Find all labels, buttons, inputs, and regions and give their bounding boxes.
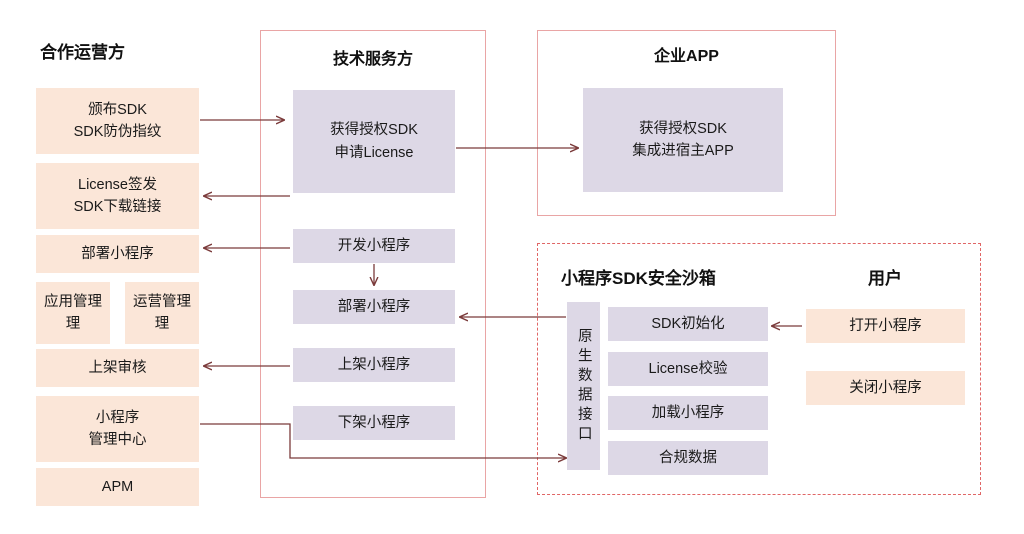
node-line: 申请License xyxy=(335,142,414,164)
node-line: SDK防伪指纹 xyxy=(74,121,162,143)
node-line: 管理中心 xyxy=(89,429,147,451)
node-get-authorized-sdk[interactable]: 获得授权SDK 申请License xyxy=(293,90,455,193)
node-list-miniapp[interactable]: 上架小程序 xyxy=(293,348,455,382)
node-open-miniapp[interactable]: 打开小程序 xyxy=(806,309,965,343)
node-line: 打开小程序 xyxy=(849,315,922,337)
node-line: 小程序 xyxy=(96,407,140,429)
node-line: 运营管理 xyxy=(133,291,191,313)
node-line: 上架小程序 xyxy=(338,354,411,376)
node-line: 理 xyxy=(155,313,170,335)
node-line: 加载小程序 xyxy=(652,402,725,424)
enterprise-app-title: 企业APP xyxy=(537,42,836,66)
node-line: 合规数据 xyxy=(659,447,717,469)
diagram-canvas: 合作运营方 技术服务方 企业APP 小程序SDK安全沙箱 用户 颁布SDK SD… xyxy=(0,0,1024,534)
node-integrate-sdk[interactable]: 获得授权SDK 集成进宿主APP xyxy=(583,88,783,192)
node-line: SDK下载链接 xyxy=(74,196,162,218)
node-line: 理 xyxy=(66,313,81,335)
node-license-verify[interactable]: License校验 xyxy=(608,352,768,386)
node-line: 上架审核 xyxy=(89,357,147,379)
node-partner-deploy-miniapp[interactable]: 部署小程序 xyxy=(36,235,199,273)
node-ops-manage[interactable]: 运营管理 理 xyxy=(125,282,199,344)
node-line: 下架小程序 xyxy=(338,412,411,434)
user-section-title: 用户 xyxy=(868,264,902,289)
node-line: 获得授权SDK xyxy=(330,119,418,141)
node-tech-deploy-miniapp[interactable]: 部署小程序 xyxy=(293,290,455,324)
node-apm[interactable]: APM xyxy=(36,468,199,506)
node-develop-miniapp[interactable]: 开发小程序 xyxy=(293,229,455,263)
node-compliance-data[interactable]: 合规数据 xyxy=(608,441,768,475)
node-listing-review[interactable]: 上架审核 xyxy=(36,349,199,387)
tech-provider-title: 技术服务方 xyxy=(260,45,486,69)
node-miniapp-center[interactable]: 小程序 管理中心 xyxy=(36,396,199,462)
sandbox-title: 小程序SDK安全沙箱 xyxy=(561,264,716,289)
node-sdk-init[interactable]: SDK初始化 xyxy=(608,307,768,341)
node-delist-miniapp[interactable]: 下架小程序 xyxy=(293,406,455,440)
node-app-manage[interactable]: 应用管理 理 xyxy=(36,282,110,344)
node-line: 获得授权SDK xyxy=(639,118,727,140)
node-line: 原生数据接口 xyxy=(576,328,591,445)
node-close-miniapp[interactable]: 关闭小程序 xyxy=(806,371,965,405)
node-line: 部署小程序 xyxy=(338,296,411,318)
node-line: 应用管理 xyxy=(44,291,102,313)
node-line: 颁布SDK xyxy=(88,99,147,121)
node-native-data-interface[interactable]: 原生数据接口 xyxy=(567,302,600,470)
node-line: 关闭小程序 xyxy=(849,377,922,399)
node-line: License校验 xyxy=(649,358,728,380)
node-line: 开发小程序 xyxy=(338,235,411,257)
node-publish-sdk[interactable]: 颁布SDK SDK防伪指纹 xyxy=(36,88,199,154)
node-line: License签发 xyxy=(78,174,157,196)
partner-section-title: 合作运营方 xyxy=(40,38,125,63)
node-line: SDK初始化 xyxy=(651,313,724,335)
node-line: 集成进宿主APP xyxy=(632,140,734,162)
node-license-issue[interactable]: License签发 SDK下载链接 xyxy=(36,163,199,229)
node-load-miniapp[interactable]: 加载小程序 xyxy=(608,396,768,430)
node-line: APM xyxy=(102,476,133,498)
node-line: 部署小程序 xyxy=(81,243,154,265)
